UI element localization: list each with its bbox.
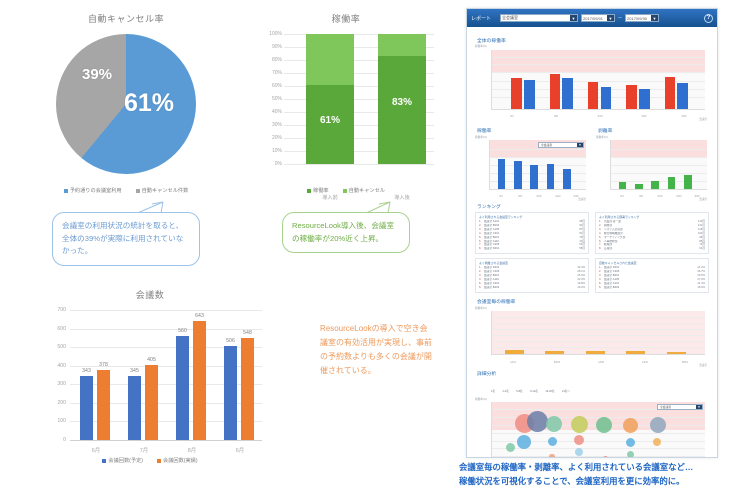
- dash-mid-left: 稼働率 稼働率(%): [475, 122, 588, 198]
- legend-item-autocancel: 自動キャンセル: [343, 187, 385, 194]
- xtick: 9/8: [547, 115, 565, 118]
- ytick: 700: [57, 307, 66, 313]
- yaxis-caption: 稼働率(%): [596, 135, 608, 139]
- legend-chip: 1名: [491, 389, 495, 393]
- legend-item-cancelled: 自動キャンセル件数: [136, 187, 189, 194]
- xtick: 9/15: [531, 195, 547, 198]
- grouped-xlabel: 7月: [120, 446, 168, 454]
- legend-chip: 2-4名: [503, 389, 509, 393]
- dashboard-title: レポート: [471, 15, 491, 22]
- pie-label-secondary: 39%: [82, 66, 112, 83]
- section-title-cancel-rate: 剥離率: [598, 127, 709, 134]
- xtick: 9/22: [671, 195, 687, 198]
- stacked-chart-yaxis: 100% 90% 80% 70% 60% 50% 40% 30% 20% 10%…: [252, 34, 282, 164]
- stacked-bar-after: 83%: [378, 34, 426, 164]
- ytick: 100: [57, 418, 66, 424]
- bar-planned: 343: [80, 376, 93, 440]
- bar-value-planned: 560: [178, 328, 187, 334]
- bar-actual: 378: [97, 370, 110, 440]
- ranking-card: よく利用される部署ランキング 1.営業部 第一課142回 2.開発部131回 3…: [595, 212, 709, 254]
- poster-canvas: 自動キャンセル率 61% 39% 予約通りの会議室利用 自動キャンセル件数 稼働…: [0, 0, 750, 491]
- chevron-down-icon[interactable]: ▼: [570, 15, 577, 21]
- rank-item: 6.会議室 B20316.2%: [479, 286, 585, 290]
- chevron-down-icon[interactable]: ▼: [577, 143, 583, 147]
- stacked-chart-legend: 稼働率 自動キャンセル: [248, 187, 444, 194]
- legend-chip: 5-8名: [516, 389, 522, 393]
- help-icon[interactable]: ?: [704, 14, 713, 23]
- legend-label-autocancel: 自動キャンセル: [349, 187, 385, 194]
- stacked-chart-panel: 稼働率 100% 90% 80% 70% 60% 50% 40% 30% 20%…: [248, 8, 444, 198]
- grouped-chart-yaxis: 700 600 500 400 300 200 100 0: [34, 310, 66, 440]
- room-select-value: 全会議室: [502, 15, 518, 21]
- operation-rate-filter[interactable]: 全会議室 ▼: [538, 142, 584, 148]
- ranking-title: よく剥離される会議室: [479, 261, 585, 265]
- orange-note-text: ResourceLookの導入で空き会議室の有効活用が実現し、事前の予約数よりも…: [320, 322, 432, 378]
- pie-chart-title: 自動キャンセル率: [8, 12, 244, 25]
- dash-top-chart: 稼働率(%): [475, 46, 709, 118]
- bubble-point: [548, 437, 557, 446]
- bar-value-actual: 378: [99, 362, 108, 368]
- calendar-icon[interactable]: ▼: [651, 15, 658, 21]
- bar-value-actual: 548: [243, 330, 252, 336]
- bubble-point: [546, 416, 562, 432]
- xtick: 9/8: [633, 195, 649, 198]
- dash-by-room-chart: 稼働率(%) A101 B203 A105 C301: [475, 307, 709, 365]
- ytick: 90%: [272, 44, 282, 50]
- xaxis-caption: 会議室: [699, 117, 707, 121]
- operation-rate-filter-value: 全会議室: [541, 143, 552, 147]
- caption-line-2: 稼働状況を可視化することで、会議室利用を更に効率的に。: [459, 474, 749, 488]
- dash-mid-right: 剥離率 稼働率(%): [596, 122, 709, 198]
- caption-line-1: 会議室毎の稼働率・剥離率、よく利用されている会議室など…: [459, 460, 749, 474]
- xtick: C301: [635, 361, 655, 364]
- grouped-chart-panel: 会議数 700 600 500 400 300 200 100 0 343: [30, 286, 270, 476]
- yaxis-caption: 稼働率(%): [475, 135, 487, 139]
- ytick: 50%: [272, 96, 282, 102]
- bubble-point: [603, 456, 608, 458]
- section-title-reserve-rate: 全体の稼働率: [477, 37, 709, 44]
- xtick: 9/15: [652, 195, 668, 198]
- dashboard-screenshot: レポート 全会議室 ▼ 2017/09/01 ▼ ～ 2017/09/30 ▼ …: [466, 8, 718, 458]
- stacked-value-after: 83%: [378, 97, 426, 108]
- xtick: 9/22: [550, 195, 566, 198]
- bubble-point: [653, 438, 661, 446]
- section-title-by-room: 会議室毎の稼働率: [477, 298, 709, 305]
- yaxis-caption: 稼働率(%): [475, 306, 487, 310]
- bar-planned: 345: [128, 376, 141, 440]
- pie-chart-legend: 予約通りの会議室利用 自動キャンセル件数: [8, 187, 244, 194]
- room-select[interactable]: 全会議室 ▼: [500, 14, 578, 22]
- xtick: 9/1: [503, 115, 521, 118]
- bubble-point: [623, 418, 638, 433]
- bubble-point: [527, 411, 548, 432]
- dash-detail-chart: 稼働率(%) 全会議室 ▼: [475, 398, 709, 458]
- xtick: A101: [503, 361, 523, 364]
- blue-callout-bubble: 会議室の利用状況の統計を取ると、全体の39%が実際に利用されていなかった。: [52, 212, 200, 266]
- xtick: B210: [675, 361, 695, 364]
- bar-value-actual: 643: [195, 313, 204, 319]
- ranking-title: よく利用される会議室ランキング: [479, 215, 585, 219]
- legend-item-actual: 会議回数(実績): [157, 457, 198, 464]
- bubble-point: [517, 435, 531, 449]
- bar-value-planned: 345: [130, 368, 139, 374]
- legend-item-reserved: 予約通りの会議室利用: [64, 187, 122, 194]
- grouped-xlabel: 6月: [216, 446, 264, 454]
- detail-filter[interactable]: 全会議室 ▼: [657, 404, 703, 410]
- xtick: 9/15: [591, 115, 609, 118]
- ranking-card: よく剥離される会議室 1.会議室 D40132.4% 2.会議室 C30528.…: [475, 258, 589, 292]
- xtick: A105: [591, 361, 611, 364]
- grouped-chart-legend: 会議回数(予定) 会議回数(実績): [30, 457, 270, 464]
- bar-planned: 560: [176, 336, 189, 440]
- legend-label-reserved: 予約通りの会議室利用: [70, 187, 122, 194]
- calendar-icon[interactable]: ▼: [607, 15, 614, 21]
- segment-utilised: 83%: [378, 56, 426, 164]
- xtick: 9/8: [512, 195, 528, 198]
- legend-chip: 9-12名: [530, 389, 538, 393]
- xtick: 9/1: [614, 195, 630, 198]
- ytick: 0: [63, 437, 66, 443]
- yaxis-caption: 稼働率(%): [475, 397, 487, 401]
- bubble-point: [507, 457, 513, 458]
- dashboard-titlebar: レポート 全会議室 ▼ 2017/09/01 ▼ ～ 2017/09/30 ▼ …: [467, 9, 717, 27]
- grouped-bar-group: 560 643 8月: [168, 310, 216, 440]
- bubble-point: [575, 448, 583, 456]
- ranking-card: 自動キャンセルされた会議室 1.会議室 D40141.2% 2.会議室 C305…: [595, 258, 709, 292]
- bubble-point: [650, 417, 666, 433]
- ytick: 20%: [272, 135, 282, 141]
- bar-actual: 548: [241, 338, 254, 440]
- xaxis-caption: 会議室: [699, 197, 707, 201]
- bottom-caption: 会議室毎の稼働率・剥離率、よく利用されている会議室など… 稼働状況を可視化するこ…: [459, 460, 749, 489]
- bubble-point: [596, 417, 612, 433]
- ytick: 0%: [275, 161, 282, 167]
- chevron-down-icon[interactable]: ▼: [696, 405, 702, 409]
- ytick: 10%: [272, 148, 282, 154]
- grouped-bar-group: 506 548 6月: [216, 310, 264, 440]
- segment-utilised: 61%: [306, 85, 354, 164]
- ytick: 70%: [272, 70, 282, 76]
- legend-label-utilisation: 稼働率: [313, 187, 329, 194]
- bubble-point: [626, 438, 635, 447]
- segment-cancelled: [378, 34, 426, 56]
- xaxis-caption: 会議室: [699, 363, 707, 367]
- ytick: 600: [57, 326, 66, 332]
- grouped-bar-group: 345 405 7月: [120, 310, 168, 440]
- ranking-card: よく利用される会議室ランキング 1.会議室 A10198回 2.会議室 B203…: [475, 212, 589, 254]
- bubble-point: [571, 416, 588, 433]
- ytick: 300: [57, 381, 66, 387]
- date-to-value: 2017/09/30: [627, 16, 647, 21]
- green-callout-bubble: ResourceLook導入後、会議室の稼働率が20%近く上昇。: [282, 212, 410, 253]
- stacked-bar-before: 61%: [306, 34, 354, 164]
- pie-chart-panel: 自動キャンセル率 61% 39% 予約通りの会議室利用 自動キャンセル件数: [8, 8, 244, 198]
- xtick: 9/29: [675, 115, 693, 118]
- bubble-point: [549, 454, 555, 458]
- ytick: 400: [57, 363, 66, 369]
- ytick: 500: [57, 344, 66, 350]
- bubble-point: [506, 443, 515, 452]
- legend-swatch-gray: [136, 189, 140, 193]
- bar-value-planned: 343: [82, 368, 91, 374]
- ranking-title: 自動キャンセルされた会議室: [599, 261, 705, 265]
- ytick: 40%: [272, 109, 282, 115]
- xtick: 9/22: [635, 115, 653, 118]
- ranking-row-top: よく利用される会議室ランキング 1.会議室 A10198回 2.会議室 B203…: [475, 212, 709, 254]
- grouped-xlabel: 8月: [168, 446, 216, 454]
- dash-mid-row: 稼働率 稼働率(%): [475, 122, 709, 198]
- section-title-ranking: ランキング: [477, 203, 709, 210]
- bubble-point: [574, 435, 584, 445]
- date-from-field[interactable]: 2017/09/01 ▼: [581, 14, 615, 22]
- dashboard-body: 全体の稼働率 稼働率(%): [467, 27, 717, 458]
- xaxis-caption: 会議室: [578, 197, 586, 201]
- ytick: 100%: [269, 31, 282, 37]
- legend-swatch-green-light: [343, 189, 347, 193]
- legend-label-actual: 会議回数(実績): [163, 457, 198, 464]
- ytick: 200: [57, 400, 66, 406]
- legend-label-planned: 会議回数(予定): [108, 457, 143, 464]
- pie-chart-graphic: 61% 39%: [46, 34, 206, 174]
- date-range-separator: ～: [618, 15, 622, 21]
- stacked-chart-plot: 61% 83% 導入前 導入後: [284, 34, 434, 164]
- rank-item: 6.会議室 B20318.0%: [599, 286, 705, 290]
- stacked-chart-title: 稼働率: [248, 12, 444, 25]
- legend-swatch-blue: [102, 459, 106, 463]
- grouped-xlabel: 6月: [72, 446, 120, 454]
- legend-swatch-green-dark: [307, 189, 311, 193]
- xtick: 9/1: [493, 195, 509, 198]
- yaxis-caption: 稼働率(%): [475, 44, 487, 48]
- detail-legend: 1名 2-4名 5-8名 9-12名 13-20名 21名～: [491, 379, 709, 397]
- stacked-value-before: 61%: [306, 115, 354, 126]
- grouped-chart-plot: 343 378 6月 345 405 7月 560: [70, 310, 262, 440]
- legend-swatch-blue: [64, 189, 68, 193]
- detail-filter-value: 全会議室: [660, 405, 671, 409]
- rank-item: 8.広報部61回: [599, 247, 705, 251]
- section-title-operation-rate: 稼働率: [477, 127, 588, 134]
- bar-value-planned: 506: [226, 338, 235, 344]
- ranking-row-bottom: よく剥離される会議室 1.会議室 D40132.4% 2.会議室 C30528.…: [475, 258, 709, 292]
- bar-planned: 506: [224, 346, 237, 440]
- segment-cancelled: [306, 34, 354, 85]
- date-to-field[interactable]: 2017/09/30 ▼: [625, 14, 659, 22]
- legend-item-utilisation: 稼働率: [307, 187, 329, 194]
- legend-chip: 13-20名: [545, 389, 554, 393]
- bubble-point: [627, 451, 634, 458]
- ranking-title: よく利用される部署ランキング: [599, 215, 705, 219]
- bar-actual: 405: [145, 365, 158, 440]
- bar-value-actual: 405: [147, 357, 156, 363]
- pie-label-primary: 61%: [124, 89, 174, 118]
- xtick: B203: [547, 361, 567, 364]
- rank-item: 8.会議室 D40158回: [479, 247, 585, 251]
- legend-chip: 21名～: [562, 389, 570, 393]
- bar-actual: 643: [193, 321, 206, 440]
- date-from-value: 2017/09/01: [583, 16, 603, 21]
- grouped-bar-group: 343 378 6月: [72, 310, 120, 440]
- grouped-chart-title: 会議数: [30, 288, 270, 301]
- legend-item-planned: 会議回数(予定): [102, 457, 143, 464]
- ytick: 60%: [272, 83, 282, 89]
- ytick: 30%: [272, 122, 282, 128]
- legend-swatch-orange: [157, 459, 161, 463]
- section-title-detail: 詳細分析: [477, 370, 709, 377]
- ytick: 80%: [272, 57, 282, 63]
- legend-label-cancelled: 自動キャンセル件数: [142, 187, 189, 194]
